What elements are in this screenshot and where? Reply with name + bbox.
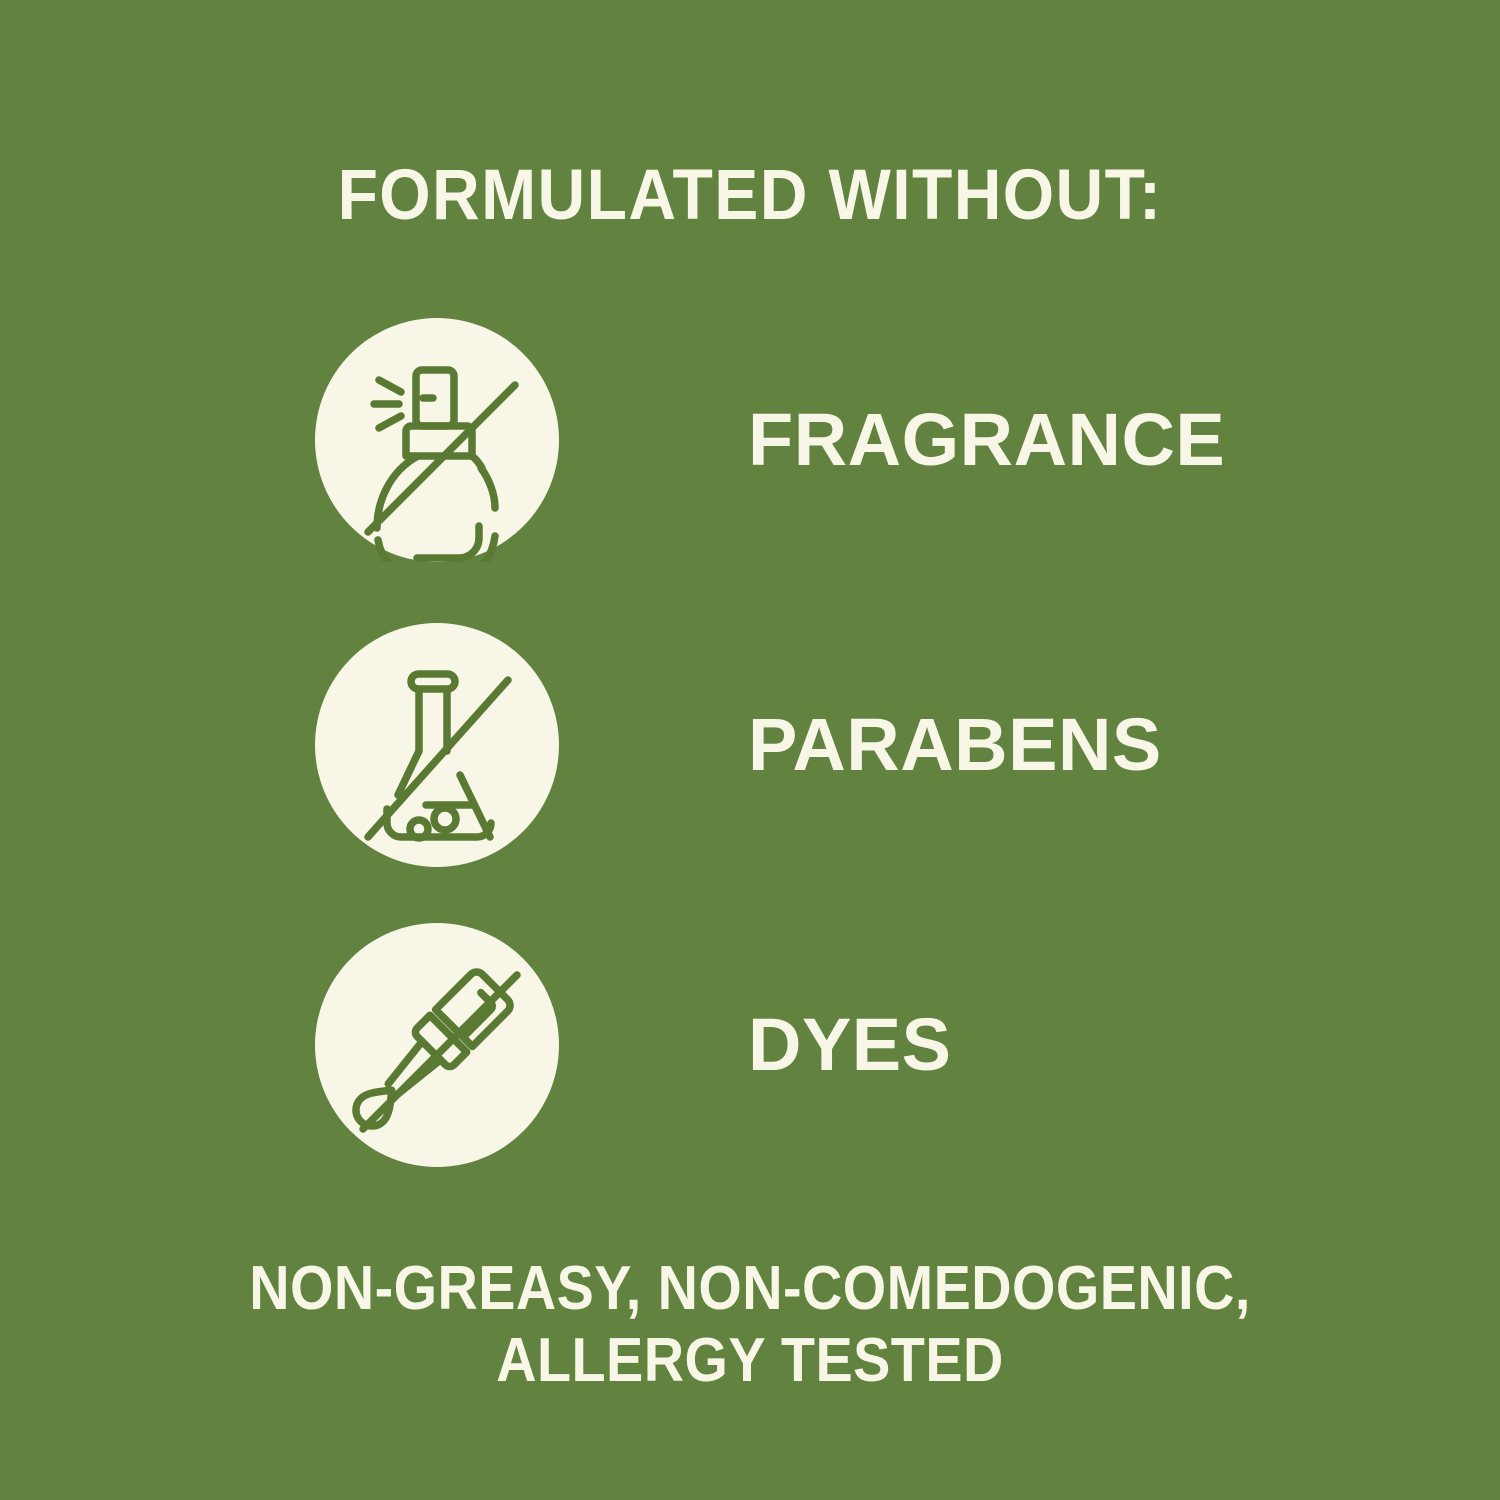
formulated-without-infographic: FORMULATED WITHOUT: [0,0,1500,1500]
list-item: DYES [0,923,1500,1167]
badge-circle-parabens [315,623,559,867]
no-fragrance-spray-bottle-icon [315,318,559,562]
no-parabens-flask-icon [315,623,559,867]
page-title: FORMULATED WITHOUT: [53,160,1448,231]
no-dyes-dropper-icon [315,923,559,1167]
list-item: PARABENS [0,623,1500,867]
item-label-parabens: PARABENS [748,623,1162,867]
badge-circle-dyes [315,923,559,1167]
footer-tagline: NON-GREASY, NON-COMEDOGENIC, ALLERGY TES… [0,1253,1500,1397]
item-label-fragrance: FRAGRANCE [748,318,1225,562]
badge-circle-fragrance [315,318,559,562]
footer-tagline-line-2: ALLERGY TESTED [75,1325,1425,1397]
footer-tagline-line-1: NON-GREASY, NON-COMEDOGENIC, [75,1253,1425,1325]
item-label-dyes: DYES [748,923,952,1167]
list-item: FRAGRANCE [0,318,1500,562]
